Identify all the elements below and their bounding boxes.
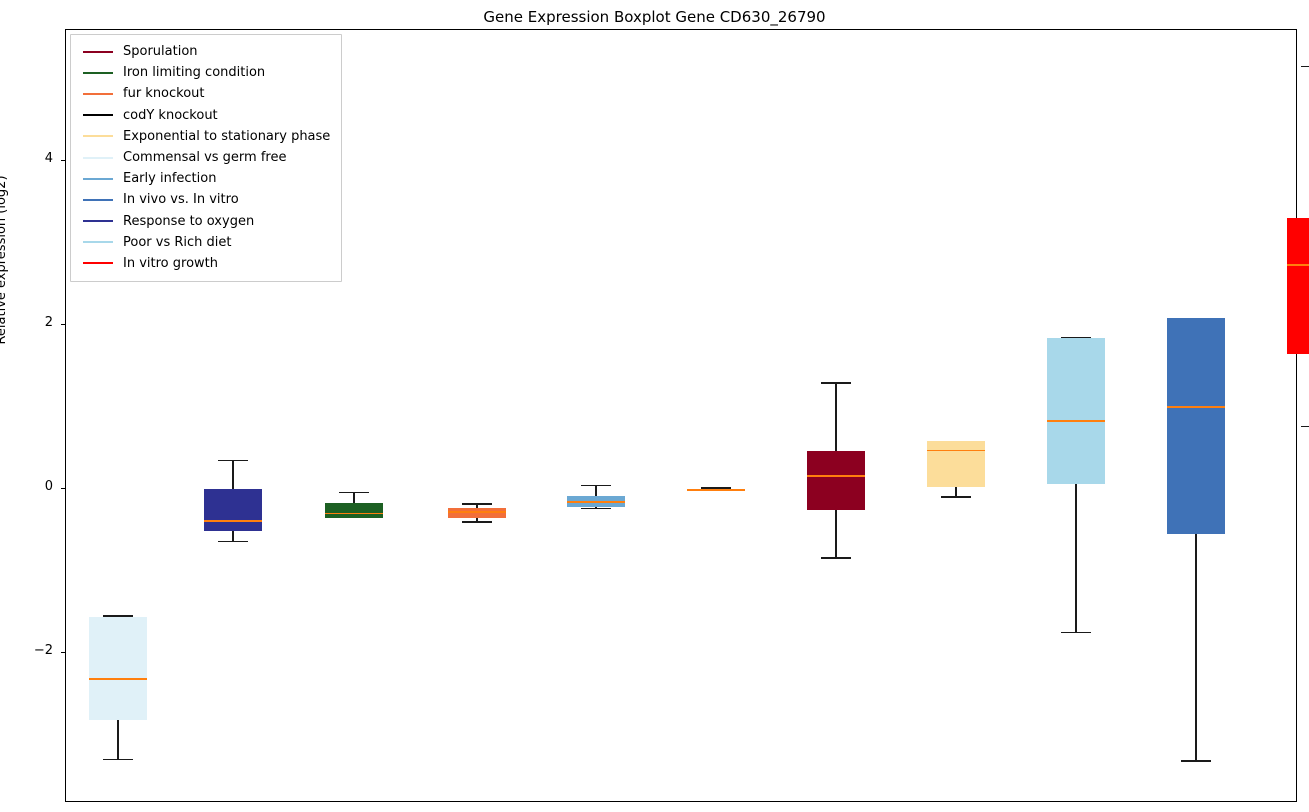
legend-item[interactable]: fur knockout xyxy=(79,83,333,104)
legend-item[interactable]: Iron limiting condition xyxy=(79,62,333,83)
legend-color-swatch-icon xyxy=(83,178,113,180)
y-axis-tick: 4 xyxy=(0,160,65,161)
legend-item-label: codY knockout xyxy=(123,109,218,122)
legend-item[interactable]: In vitro growth xyxy=(79,253,333,274)
legend-color-swatch-icon xyxy=(83,114,113,116)
boxplot-box-body[interactable] xyxy=(1287,218,1309,354)
legend-item[interactable]: Sporulation xyxy=(79,41,333,62)
chart-figure: Gene Expression Boxplot Gene CD630_26790… xyxy=(0,0,1309,812)
y-axis-tick: −2 xyxy=(0,652,65,653)
legend-item-label: Sporulation xyxy=(123,45,198,58)
legend-item[interactable]: Commensal vs germ free xyxy=(79,147,333,168)
legend-item[interactable]: In vivo vs. In vitro xyxy=(79,189,333,210)
legend-item[interactable]: Exponential to stationary phase xyxy=(79,126,333,147)
y-axis-tick-label: 0 xyxy=(45,479,53,494)
legend-item-label: Early infection xyxy=(123,172,216,185)
legend-item-label: Poor vs Rich diet xyxy=(123,236,231,249)
y-axis-tick: 2 xyxy=(0,324,65,325)
legend-item-label: Iron limiting condition xyxy=(123,66,265,79)
chart-title: Gene Expression Boxplot Gene CD630_26790 xyxy=(0,8,1309,26)
legend-color-swatch-icon xyxy=(83,199,113,201)
legend-color-swatch-icon xyxy=(83,220,113,222)
lower-whisker-cap xyxy=(1301,426,1309,428)
legend-item[interactable]: Poor vs Rich diet xyxy=(79,232,333,253)
legend-item-label: Exponential to stationary phase xyxy=(123,130,330,143)
boxplot-median-line xyxy=(1287,264,1309,266)
y-axis-label-text: Relative expression (log2) xyxy=(0,175,9,344)
legend-item-label: Commensal vs germ free xyxy=(123,151,286,164)
y-axis-tick-label: 2 xyxy=(45,315,53,330)
y-axis-tick-label: 4 xyxy=(45,151,53,166)
legend-color-swatch-icon xyxy=(83,157,113,159)
legend-color-swatch-icon xyxy=(83,93,113,95)
y-axis-tick: 0 xyxy=(0,488,65,489)
legend-color-swatch-icon xyxy=(83,72,113,74)
legend-item[interactable]: codY knockout xyxy=(79,105,333,126)
legend-item[interactable]: Early infection xyxy=(79,168,333,189)
legend-color-swatch-icon xyxy=(83,241,113,243)
legend-item-label: In vitro growth xyxy=(123,257,218,270)
legend-item[interactable]: Response to oxygen xyxy=(79,211,333,232)
legend-item-label: fur knockout xyxy=(123,87,205,100)
legend-color-swatch-icon xyxy=(83,51,113,53)
y-axis-tick-label: −2 xyxy=(34,643,53,658)
legend-color-swatch-icon xyxy=(83,262,113,264)
legend-item-label: Response to oxygen xyxy=(123,215,254,228)
y-axis-label: Relative expression (log2) xyxy=(0,130,9,390)
legend-item-label: In vivo vs. In vitro xyxy=(123,193,239,206)
upper-whisker-cap xyxy=(1301,66,1309,68)
chart-legend: SporulationIron limiting conditionfur kn… xyxy=(70,34,342,282)
legend-color-swatch-icon xyxy=(83,135,113,137)
